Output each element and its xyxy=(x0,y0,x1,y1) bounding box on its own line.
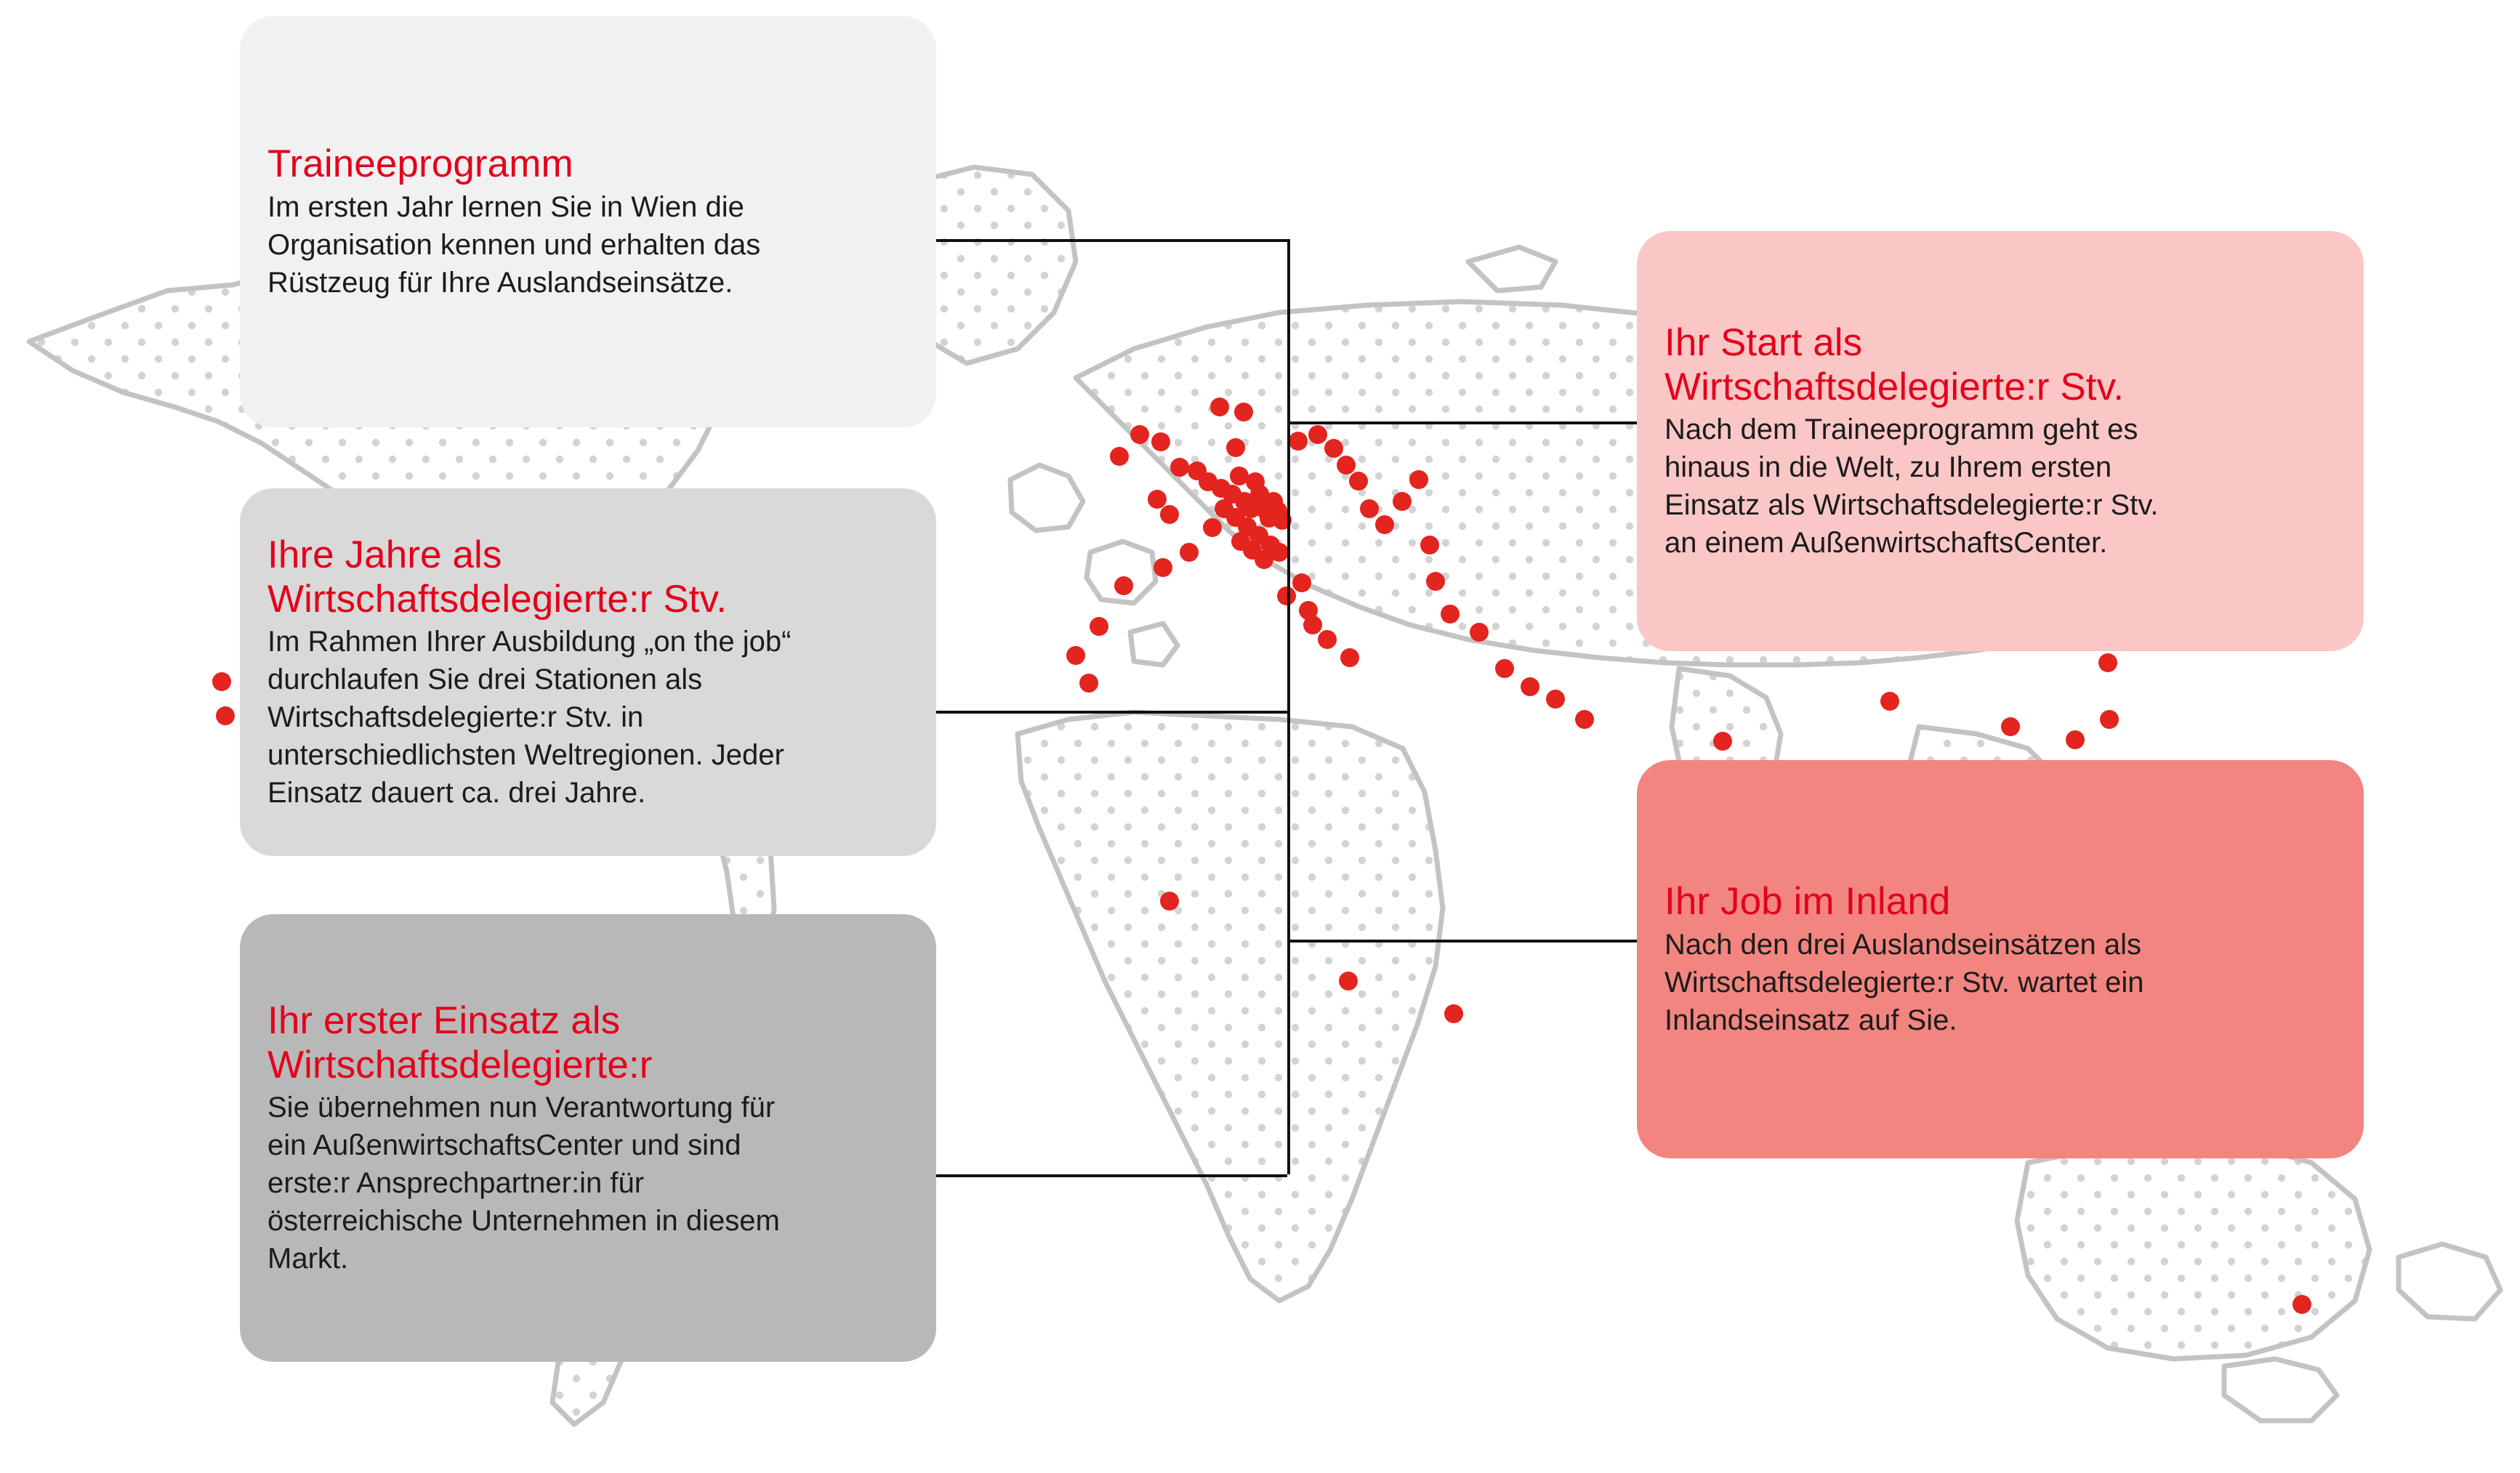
career-path-infographic: Traineeprogramm Im ersten Jahr lernen Si… xyxy=(0,0,2520,1473)
map-marker xyxy=(1444,1004,1463,1023)
card-erster-einsatz[interactable]: Ihr erster Einsatz als Wirtschaftsdelegi… xyxy=(240,914,936,1362)
map-marker xyxy=(1277,586,1296,605)
map-marker xyxy=(1170,458,1189,477)
map-marker xyxy=(1160,892,1179,911)
map-marker xyxy=(2292,1295,2311,1314)
map-marker xyxy=(1409,470,1428,489)
card-body: Nach den drei Auslandseinsätzen als Wirt… xyxy=(1664,926,2336,1039)
map-marker xyxy=(1308,425,1327,444)
card-body: Im ersten Jahr lernen Sie in Wien die Or… xyxy=(267,188,909,302)
map-marker xyxy=(1130,425,1149,444)
map-marker xyxy=(2001,717,2020,736)
card-body: Im Rahmen Ihrer Ausbildung „on the job“ … xyxy=(267,623,909,812)
card-title: Ihr Job im Inland xyxy=(1664,879,2336,924)
map-marker xyxy=(1226,438,1245,457)
map-marker xyxy=(2066,730,2085,749)
map-marker xyxy=(1349,472,1368,491)
map-marker xyxy=(216,706,235,725)
map-marker xyxy=(1110,447,1129,466)
map-marker xyxy=(1420,536,1439,554)
map-marker xyxy=(1340,648,1359,667)
map-marker xyxy=(1393,492,1412,511)
card-body: Nach dem Traineeprogramm geht es hinaus … xyxy=(1664,411,2336,562)
map-marker xyxy=(1203,518,1222,537)
map-marker xyxy=(1324,439,1343,458)
map-marker xyxy=(1337,456,1356,475)
card-job-im-inland[interactable]: Ihr Job im Inland Nach den drei Auslands… xyxy=(1637,760,2364,1158)
map-marker xyxy=(1880,692,1899,711)
map-marker xyxy=(1546,690,1565,709)
card-title: Traineeprogramm xyxy=(267,142,909,186)
card-title: Ihre Jahre als Wirtschaftsdelegierte:r S… xyxy=(267,533,909,622)
map-marker xyxy=(1339,972,1358,990)
map-marker xyxy=(1441,605,1460,623)
map-marker xyxy=(2098,653,2117,672)
map-marker xyxy=(1090,617,1108,636)
map-marker xyxy=(1148,490,1167,509)
card-ihre-jahre[interactable]: Ihre Jahre als Wirtschaftsdelegierte:r S… xyxy=(240,488,936,856)
card-title: Ihr erster Einsatz als Wirtschaftsdelegi… xyxy=(267,998,909,1088)
map-marker xyxy=(1713,732,1732,751)
map-marker xyxy=(1303,616,1322,634)
map-marker xyxy=(1289,432,1308,451)
map-marker xyxy=(1160,505,1179,524)
map-marker xyxy=(1318,630,1337,649)
map-marker xyxy=(1154,558,1172,577)
map-marker xyxy=(1234,403,1253,421)
map-marker xyxy=(2100,710,2119,729)
map-marker xyxy=(1521,677,1539,696)
map-marker xyxy=(1079,674,1098,693)
map-marker xyxy=(1151,432,1170,451)
map-marker xyxy=(1375,515,1394,534)
card-body: Sie übernehmen nun Verantwortung für ein… xyxy=(267,1089,909,1278)
card-ihr-start[interactable]: Ihr Start als Wirtschaftsdelegierte:r St… xyxy=(1637,231,2364,651)
map-marker xyxy=(1495,659,1514,678)
map-marker xyxy=(1575,710,1594,729)
card-traineeprogramm[interactable]: Traineeprogramm Im ersten Jahr lernen Si… xyxy=(240,16,936,427)
map-marker xyxy=(212,672,231,691)
card-title: Ihr Start als Wirtschaftsdelegierte:r St… xyxy=(1664,320,2336,410)
map-marker xyxy=(1470,623,1489,642)
map-marker xyxy=(1180,543,1199,562)
map-marker xyxy=(1210,397,1229,416)
map-marker xyxy=(1066,646,1085,665)
map-marker xyxy=(1360,499,1379,518)
map-marker xyxy=(1273,511,1292,530)
map-marker xyxy=(1270,543,1289,562)
map-marker xyxy=(1114,576,1133,595)
map-marker xyxy=(1292,573,1311,592)
map-marker xyxy=(1426,572,1445,591)
